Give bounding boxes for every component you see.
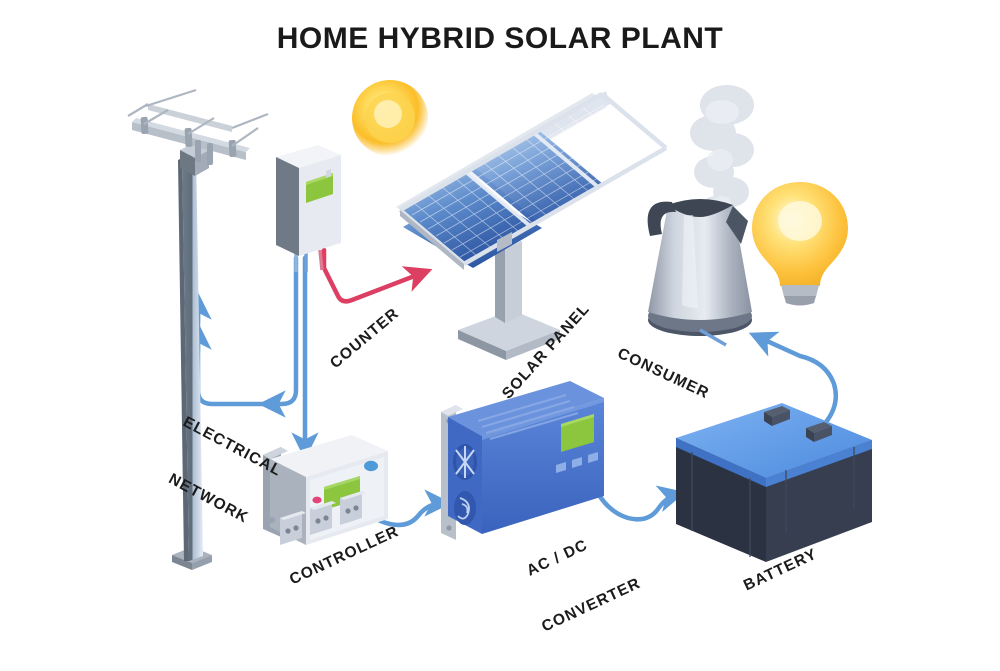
flow-panel-to-counter [324, 250, 425, 301]
converter-fan-upper [453, 444, 477, 480]
consumer-appliances[interactable] [648, 85, 848, 345]
flow-counter-to-pole-down [266, 258, 296, 404]
controller-button [364, 461, 378, 471]
label-electrical-network-line2: NETWORK [153, 463, 258, 531]
label-ac-dc-converter-line2: CONVERTER [539, 574, 644, 636]
sun-icon [352, 80, 428, 156]
lightbulb-icon [752, 182, 848, 306]
label-ac-dc-converter-line1: AC / DC [515, 523, 620, 585]
infographic-canvas: HOME HYBRID SOLAR PLANT [0, 0, 1000, 600]
electricity-counter[interactable] [276, 145, 341, 272]
label-electrical-network-line1: ELECTRICAL [179, 413, 284, 481]
solar-panel-array[interactable] [396, 91, 666, 360]
storage-battery[interactable] [676, 403, 872, 562]
converter-fan-lower [454, 491, 476, 525]
